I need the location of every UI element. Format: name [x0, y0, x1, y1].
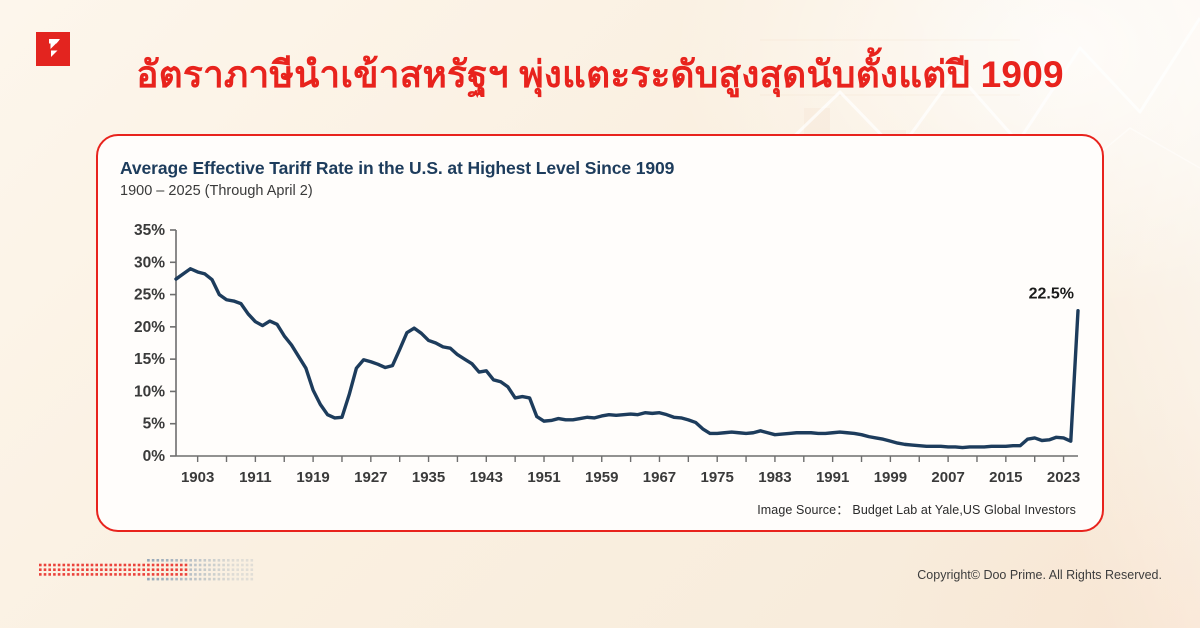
image-source-caption: Image Source： Budget Lab at Yale,US Glob… [757, 499, 1076, 518]
svg-text:1911: 1911 [239, 469, 272, 486]
svg-text:2015: 2015 [989, 469, 1022, 486]
svg-text:1959: 1959 [585, 469, 618, 486]
chart-title: Average Effective Tariff Rate in the U.S… [120, 158, 1078, 179]
svg-text:15%: 15% [134, 351, 165, 368]
copyright-text: Copyright© Doo Prime. All Rights Reserve… [917, 568, 1162, 582]
svg-text:1991: 1991 [816, 469, 849, 486]
svg-text:2023: 2023 [1047, 469, 1080, 486]
svg-text:2007: 2007 [931, 469, 964, 486]
svg-text:1967: 1967 [643, 469, 676, 486]
svg-text:1983: 1983 [758, 469, 791, 486]
svg-text:25%: 25% [134, 287, 165, 304]
svg-text:1935: 1935 [412, 469, 445, 486]
chart-card: Average Effective Tariff Rate in the U.S… [96, 134, 1104, 532]
halftone-dots-decoration [38, 558, 258, 584]
svg-text:22.5%: 22.5% [1029, 286, 1074, 303]
page-headline: อัตราภาษีนำเข้าสหรัฐฯ พุ่งแตะระดับสูงสุด… [0, 52, 1200, 98]
svg-text:0%: 0% [143, 448, 166, 465]
svg-text:30%: 30% [134, 254, 165, 271]
tariff-rate-line-chart: 0%5%10%15%20%25%30%35%190319111919192719… [120, 220, 1088, 492]
chart-subtitle: 1900 – 2025 (Through April 2) [120, 183, 1078, 199]
svg-text:1943: 1943 [470, 469, 503, 486]
svg-text:20%: 20% [134, 319, 165, 336]
svg-text:35%: 35% [134, 222, 165, 239]
svg-text:1999: 1999 [874, 469, 907, 486]
svg-text:1927: 1927 [354, 469, 387, 486]
svg-text:1975: 1975 [701, 469, 734, 486]
svg-text:1903: 1903 [181, 469, 214, 486]
chart-plot-area: 0%5%10%15%20%25%30%35%190319111919192719… [120, 220, 1088, 492]
svg-text:10%: 10% [134, 383, 165, 400]
svg-text:5%: 5% [143, 416, 166, 433]
svg-text:1919: 1919 [296, 469, 329, 486]
svg-text:1951: 1951 [527, 469, 560, 486]
